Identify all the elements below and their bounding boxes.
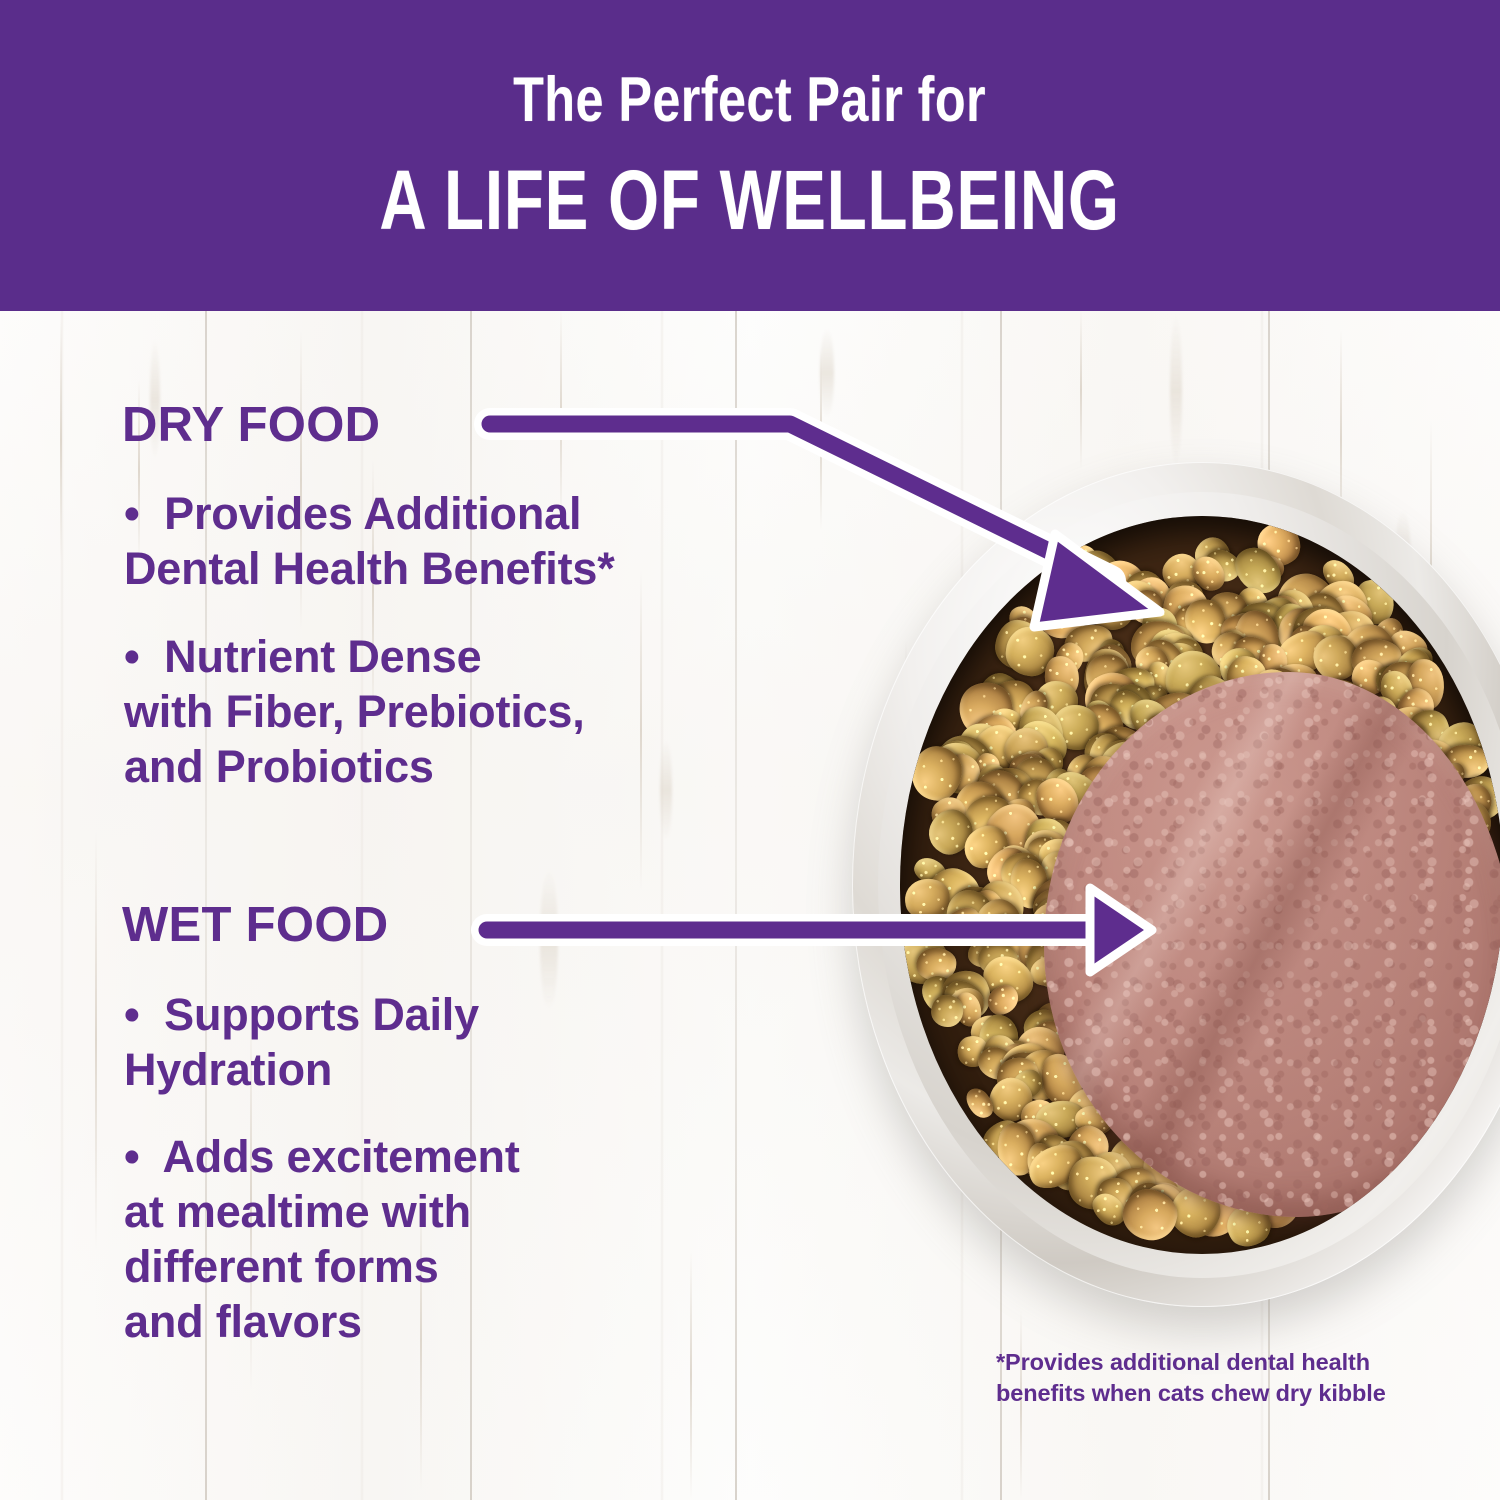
bullet-dot: • — [124, 631, 140, 682]
bullet-line: with Fiber, Prebiotics, — [124, 686, 585, 737]
product-infographic: The Perfect Pair for A LIFE OF WELLBEING… — [0, 0, 1500, 1500]
bowl-interior — [900, 516, 1500, 1254]
header-line-2: A LIFE OF WELLBEING — [380, 158, 1120, 242]
header-line-1: The Perfect Pair for — [514, 69, 987, 132]
bullet-dry-1: • Provides Additional Dental Health Bene… — [124, 487, 824, 597]
bullet-line: Supports Daily — [164, 989, 479, 1040]
footnote-disclaimer: *Provides additional dental health benef… — [996, 1347, 1466, 1409]
bullet-line: Nutrient Dense — [164, 631, 481, 682]
bullet-line: at mealtime with — [124, 1186, 471, 1237]
bullet-line: Dental Health Benefits* — [124, 543, 615, 594]
section-heading-dry-food: DRY FOOD — [122, 397, 380, 453]
bullet-line: Adds excitement — [163, 1131, 520, 1182]
cat-food-bowl-image — [852, 462, 1500, 1307]
bullet-wet-1: • Supports Daily Hydration — [124, 988, 824, 1098]
kibble-piece — [931, 995, 964, 1028]
bullet-dot: • — [124, 989, 140, 1040]
bullet-dry-2: • Nutrient Dense with Fiber, Prebiotics,… — [124, 630, 824, 795]
bullet-line: Provides Additional — [164, 488, 581, 539]
bullet-line: Hydration — [124, 1044, 332, 1095]
wet-food-pate — [1044, 672, 1500, 1217]
bullet-line: different forms — [124, 1241, 439, 1292]
footnote-line-2: benefits when cats chew dry kibble — [996, 1378, 1466, 1409]
bullet-line: and flavors — [124, 1296, 362, 1347]
header-banner: The Perfect Pair for A LIFE OF WELLBEING — [0, 0, 1500, 311]
section-heading-wet-food: WET FOOD — [122, 897, 388, 953]
bullet-dot: • — [124, 1131, 140, 1182]
bullet-dot: • — [124, 488, 140, 539]
bullet-wet-2: • Adds excitement at mealtime with diffe… — [124, 1130, 824, 1350]
bullet-line: and Probiotics — [124, 741, 434, 792]
footnote-line-1: *Provides additional dental health — [996, 1347, 1466, 1378]
